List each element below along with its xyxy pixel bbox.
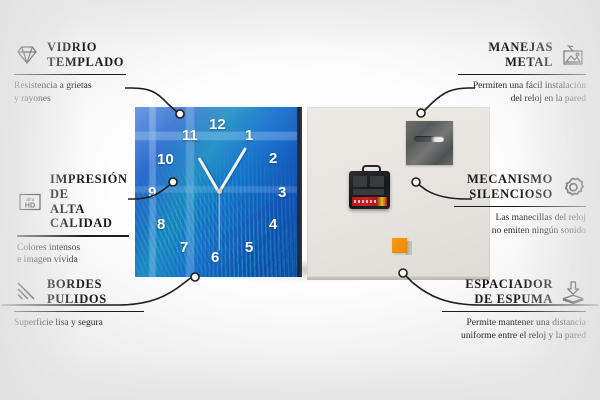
callout-desc-line1: Superficie lisa y segura: [14, 317, 144, 330]
callout-desc-line2: del reloj en la pared: [458, 93, 586, 106]
mechanism-detail-1: [353, 176, 367, 187]
callout-title-line1: VIDRIO: [47, 40, 124, 55]
metal-hanger-plate: [406, 121, 453, 165]
callout-desc-line2: y rayones: [14, 93, 126, 106]
callout-desc-line2: e imagen vívida: [17, 254, 129, 267]
polished-edges-icon: [14, 279, 40, 305]
callout-desc-line1: Colores intensos: [17, 242, 129, 255]
callout-title-line1: IMPRESIÓN DE: [50, 172, 129, 202]
clock-numeral-9: 9: [148, 185, 156, 200]
callout-rule: [454, 206, 586, 208]
mechanism-hang-tab: [362, 165, 381, 175]
battery-label: [352, 197, 387, 206]
callout-title-line2: METAL: [488, 55, 553, 70]
callout-desc-line1: Resistencia a grietas: [14, 80, 126, 93]
infographic-canvas: 12 1 2 3 4 5 6 7 8 9 10 11: [0, 0, 600, 400]
clock-numeral-11: 11: [182, 128, 198, 143]
callout-title-line2: SILENCIOSO: [467, 187, 553, 202]
callout-title-line2: PULIDOS: [47, 292, 107, 307]
foam-spacer: [392, 238, 407, 253]
clock-numeral-12: 12: [209, 117, 226, 132]
clock-numeral-2: 2: [269, 151, 277, 166]
clock-numeral-7: 7: [180, 240, 188, 255]
callout-desc-line2: uniforme entre el reloj y la pared: [442, 330, 586, 343]
callout-title-line1: ESPACIADOR: [465, 277, 553, 292]
callout-vidrio-templado: VIDRIO TEMPLADO Resistencia a grietas y …: [14, 40, 126, 105]
svg-text:HD: HD: [25, 200, 35, 209]
callout-impresion-alta-calidad: ultra HD IMPRESIÓN DE ALTA CALIDAD Color…: [17, 172, 129, 267]
gear-icon: [560, 174, 586, 200]
clock-numeral-4: 4: [269, 217, 277, 232]
callout-manejas-metal: MANEJAS METAL Permiten una fácil instala…: [458, 40, 586, 105]
callout-title-line1: BORDES: [47, 277, 107, 292]
clock-side-edge: [297, 107, 302, 277]
callout-title-line2: DE ESPUMA: [465, 292, 553, 307]
callout-desc-line1: Permite mantener una distancia: [442, 317, 586, 330]
callout-espaciador-espuma: ESPACIADOR DE ESPUMA Permite mantener un…: [442, 277, 586, 342]
callout-desc-line1: Permiten una fácil instalación: [458, 80, 586, 93]
callout-header: ESPACIADOR DE ESPUMA: [442, 277, 586, 307]
down-arrow-pad-icon: [560, 279, 586, 305]
callout-header: BORDES PULIDOS: [14, 277, 144, 307]
callout-rule: [14, 311, 144, 313]
callout-header: ultra HD IMPRESIÓN DE ALTA CALIDAD: [17, 172, 129, 231]
hanging-frame-icon: [560, 42, 586, 68]
silent-quartz-mechanism: [349, 171, 390, 209]
callout-title-line1: MANEJAS: [488, 40, 553, 55]
clock-numeral-6: 6: [211, 250, 219, 265]
product-photo: 12 1 2 3 4 5 6 7 8 9 10 11: [135, 107, 490, 277]
clock-second-hand: [218, 193, 219, 251]
callout-rule: [14, 74, 126, 76]
mechanism-detail-3: [353, 189, 384, 195]
callout-rule: [442, 311, 586, 313]
callout-desc-line2: no emiten ningún sonido: [454, 225, 586, 238]
clock-center-pin: [217, 189, 222, 194]
callout-mecanismo-silencioso: MECANISMO SILENCIOSO Las manecillas del …: [454, 172, 586, 237]
callout-rule: [17, 235, 129, 237]
callout-header: MECANISMO SILENCIOSO: [454, 172, 586, 202]
callout-title-line2: TEMPLADO: [47, 55, 124, 70]
mechanism-detail-2: [370, 176, 384, 187]
callout-bordes-pulidos: BORDES PULIDOS Superficie lisa y segura: [14, 277, 144, 330]
clock-numeral-1: 1: [245, 128, 253, 143]
callout-header: MANEJAS METAL: [458, 40, 586, 70]
clock-numeral-5: 5: [245, 240, 253, 255]
callout-title-line2: ALTA CALIDAD: [50, 202, 129, 232]
callout-title-line1: MECANISMO: [467, 172, 553, 187]
callout-desc-line1: Las manecillas del reloj: [454, 212, 586, 225]
ultra-hd-icon: ultra HD: [17, 189, 43, 215]
callout-header: VIDRIO TEMPLADO: [14, 40, 126, 70]
clock-numeral-10: 10: [157, 152, 174, 167]
clock-numeral-3: 3: [278, 185, 286, 200]
diamond-icon: [14, 42, 40, 68]
callout-rule: [458, 74, 586, 76]
clock-face: 12 1 2 3 4 5 6 7 8 9 10 11: [135, 107, 302, 277]
clock-numeral-8: 8: [157, 217, 165, 232]
hanger-slot: [414, 136, 444, 142]
